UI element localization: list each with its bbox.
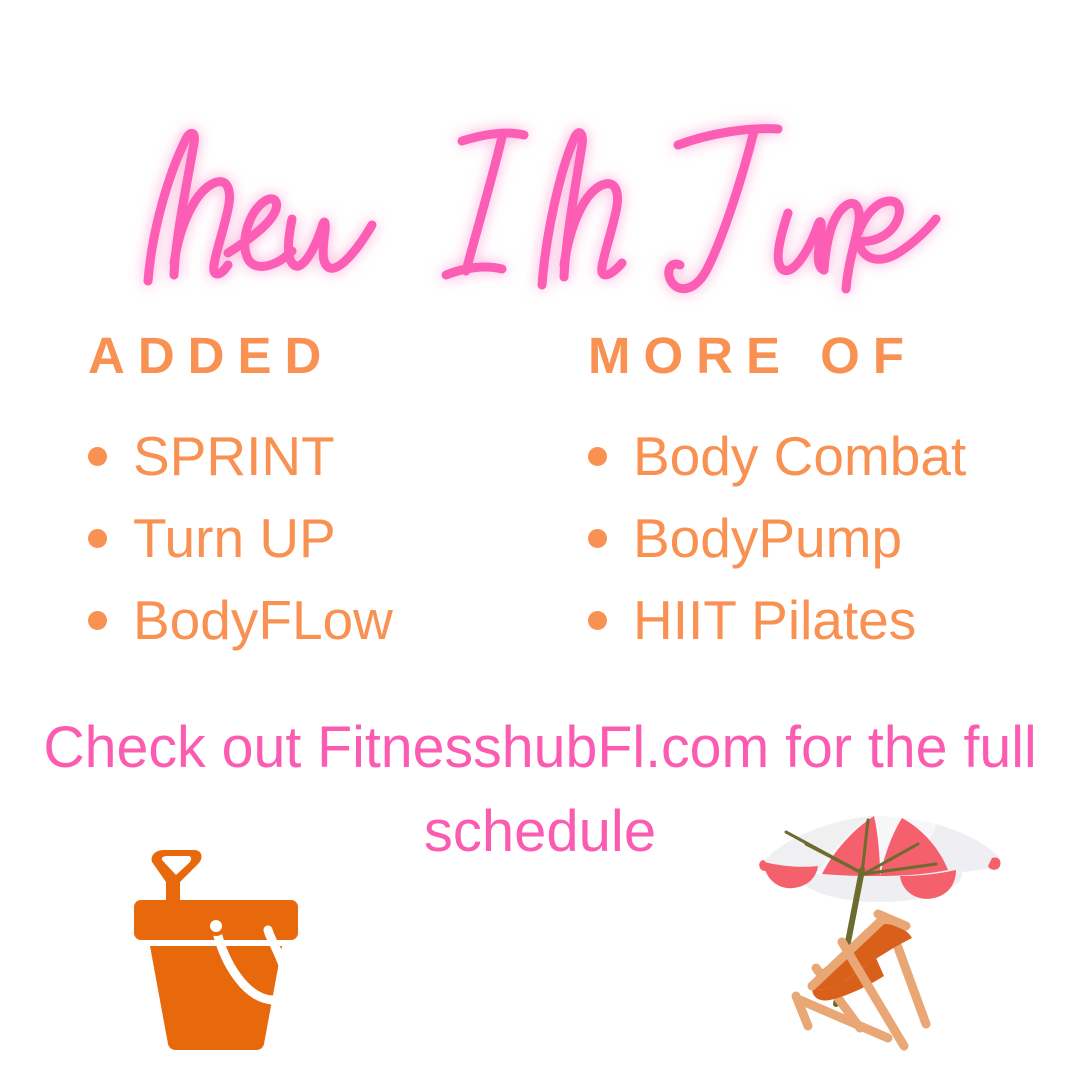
bullet-dot-icon (588, 447, 607, 466)
list-item: HIIT Pilates (588, 579, 1000, 661)
list-item: BodyPump (588, 497, 1000, 579)
list-item: SPRINT (88, 415, 500, 497)
title-script-artwork (110, 113, 970, 303)
beach-umbrella-and-chair-icon (756, 800, 1004, 1062)
column-added: ADDED SPRINT Turn UP BodyFLow (0, 330, 500, 670)
list-item: BodyFLow (88, 579, 500, 661)
list-item: Body Combat (588, 415, 1000, 497)
list-item-label: Turn UP (133, 511, 336, 566)
bullet-dot-icon (88, 611, 107, 630)
list-more-of: Body Combat BodyPump HIIT Pilates (588, 415, 1000, 661)
page-title (0, 108, 1080, 308)
list-item-label: HIIT Pilates (633, 593, 916, 648)
list-item-label: BodyPump (633, 511, 902, 566)
bullet-dot-icon (588, 529, 607, 548)
list-added: SPRINT Turn UP BodyFLow (88, 415, 500, 661)
bullet-dot-icon (588, 611, 607, 630)
bullet-dot-icon (88, 447, 107, 466)
bullet-dot-icon (88, 529, 107, 548)
sand-bucket-icon (128, 838, 304, 1053)
list-item-label: Body Combat (633, 429, 966, 484)
column-heading-added: ADDED (88, 330, 500, 381)
list-item: Turn UP (88, 497, 500, 579)
class-lists: ADDED SPRINT Turn UP BodyFLow MORE OF (0, 330, 1080, 670)
column-more-of: MORE OF Body Combat BodyPump HIIT Pilate… (500, 330, 1000, 670)
cta-line-1: Check out FitnesshubFl.com for the full (7, 706, 1074, 790)
list-item-label: BodyFLow (133, 593, 393, 648)
poster-canvas: ADDED SPRINT Turn UP BodyFLow MORE OF (0, 0, 1080, 1080)
column-heading-more-of: MORE OF (588, 330, 1000, 381)
list-item-label: SPRINT (133, 429, 335, 484)
